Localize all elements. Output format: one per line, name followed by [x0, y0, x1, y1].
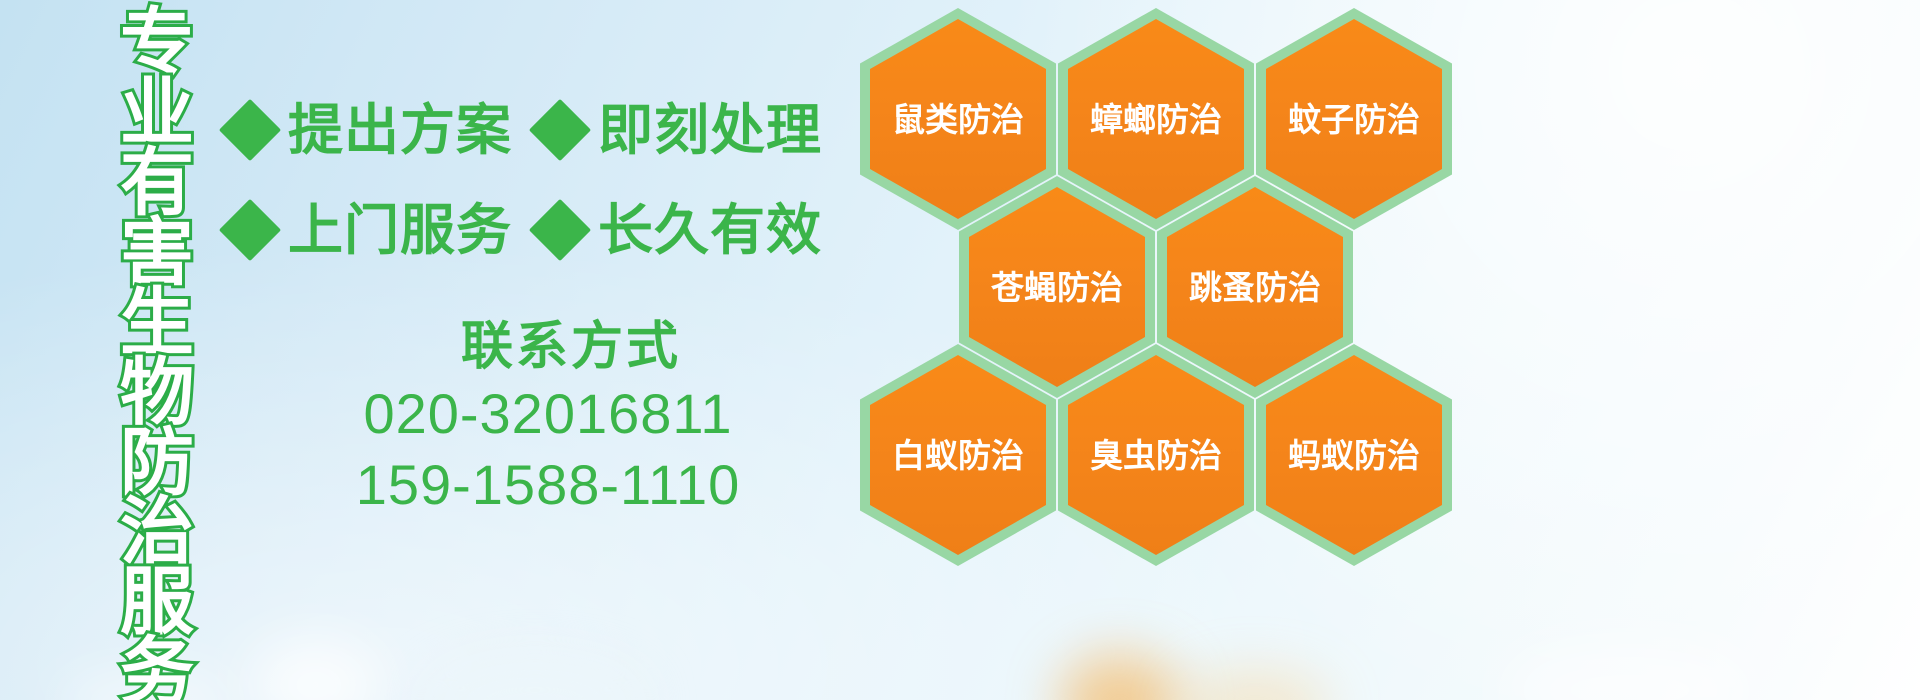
hex-inner: 蚊子防治: [1266, 19, 1442, 219]
service-honeycomb: 鼠类防治 蟑螂防治 蚊子防治 苍蝇防治 跳蚤防治 白蚁防治: [858, 0, 1458, 560]
hex-inner: 白蚁防治: [870, 355, 1046, 555]
contact-title: 联系方式: [314, 318, 828, 378]
background-bokeh-blob: [1500, 640, 1760, 700]
service-label: 蟑螂防治: [1090, 103, 1222, 136]
hex-inner: 臭虫防治: [1068, 355, 1244, 555]
feature-label: 上门服务: [288, 203, 512, 258]
phone-number-mobile[interactable]: 159-1588-1110: [268, 449, 828, 521]
hex-inner: 蚂蚁防治: [1266, 355, 1442, 555]
feature-label: 长久有效: [598, 203, 822, 258]
service-label: 跳蚤防治: [1189, 271, 1321, 304]
feature-row: 提出方案 即刻处理: [228, 80, 868, 180]
background-bokeh-blob: [1060, 655, 1180, 700]
diamond-bullet-icon: [529, 99, 591, 161]
diamond-bullet-icon: [529, 199, 591, 261]
contact-block: 联系方式 020-32016811 159-1588-1110: [268, 318, 828, 521]
service-label: 蚂蚁防治: [1288, 439, 1420, 472]
feature-row: 上门服务 长久有效: [228, 180, 868, 280]
feature-item: 提出方案: [228, 103, 512, 158]
hex-inner: 蟑螂防治: [1068, 19, 1244, 219]
feature-label: 即刻处理: [598, 103, 822, 158]
feature-item: 上门服务: [228, 203, 512, 258]
hex-inner: 跳蚤防治: [1167, 187, 1343, 387]
hex-inner: 鼠类防治: [870, 19, 1046, 219]
feature-item: 即刻处理: [538, 103, 822, 158]
feature-item: 长久有效: [538, 203, 822, 258]
background-bokeh-blob: [430, 665, 640, 700]
vertical-headline: 专业有害生物防治服务: [104, 8, 210, 700]
pest-control-promo-banner: 专业有害生物防治服务 提出方案 即刻处理 上门服务 长久有效 联: [0, 0, 1920, 700]
service-label: 鼠类防治: [892, 103, 1024, 136]
diamond-bullet-icon: [219, 199, 281, 261]
diamond-bullet-icon: [219, 99, 281, 161]
background-bokeh-blob: [250, 640, 380, 700]
service-label: 苍蝇防治: [991, 271, 1123, 304]
phone-number-landline[interactable]: 020-32016811: [268, 378, 828, 450]
service-label: 白蚁防治: [892, 439, 1024, 472]
hex-inner: 苍蝇防治: [969, 187, 1145, 387]
background-bokeh-blob: [1180, 672, 1330, 700]
feature-list: 提出方案 即刻处理 上门服务 长久有效: [228, 80, 868, 280]
service-label: 蚊子防治: [1288, 103, 1420, 136]
feature-label: 提出方案: [288, 103, 512, 158]
service-label: 臭虫防治: [1090, 439, 1222, 472]
